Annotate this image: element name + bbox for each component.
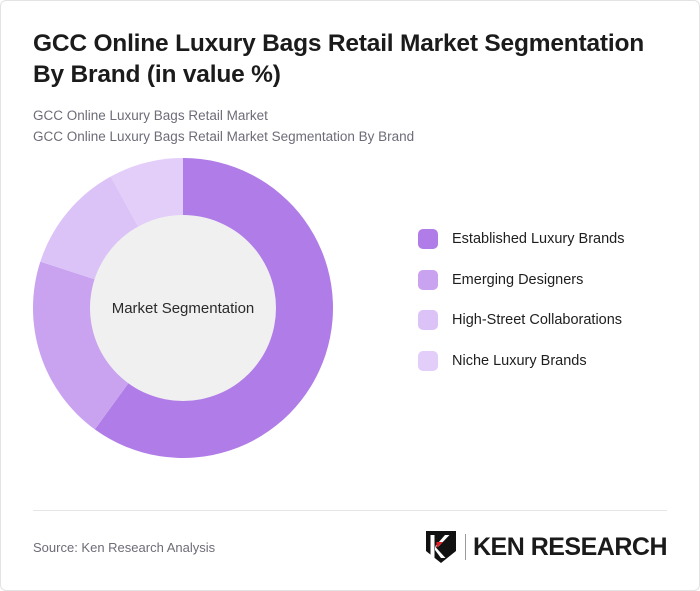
legend-item[interactable]: Established Luxury Brands [418, 229, 625, 249]
legend-item[interactable]: Niche Luxury Brands [418, 351, 625, 371]
legend-label: Emerging Designers [452, 272, 583, 288]
source-note: Source: Ken Research Analysis [33, 540, 215, 555]
chart-card: GCC Online Luxury Bags Retail Market Seg… [0, 0, 700, 591]
chart-area: Market Segmentation Established Luxury B… [33, 157, 667, 475]
legend-swatch [418, 229, 438, 249]
footer: Source: Ken Research Analysis KEN RESEAR… [33, 526, 667, 568]
legend-label: Established Luxury Brands [452, 231, 625, 247]
footer-divider [33, 510, 667, 511]
subtitle-segmentation: GCC Online Luxury Bags Retail Market Seg… [33, 127, 667, 148]
donut-chart: Market Segmentation [32, 157, 334, 459]
legend-label: Niche Luxury Brands [452, 353, 587, 369]
brand-name: KEN RESEARCH [473, 535, 667, 560]
legend-swatch [418, 310, 438, 330]
brand-logo: KEN RESEARCH [424, 529, 667, 565]
chart-legend: Established Luxury BrandsEmerging Design… [418, 229, 625, 371]
donut-svg [32, 157, 334, 459]
page-title: GCC Online Luxury Bags Retail Market Seg… [33, 1, 667, 90]
subtitle-market: GCC Online Luxury Bags Retail Market [33, 106, 667, 127]
legend-swatch [418, 351, 438, 371]
legend-item[interactable]: High-Street Collaborations [418, 310, 625, 330]
legend-swatch [418, 270, 438, 290]
donut-hole [90, 215, 276, 401]
ken-research-shield-icon [424, 529, 458, 565]
subtitle-block: GCC Online Luxury Bags Retail Market GCC… [33, 106, 667, 147]
legend-item[interactable]: Emerging Designers [418, 270, 625, 290]
brand-separator [465, 534, 466, 560]
legend-label: High-Street Collaborations [452, 312, 622, 328]
